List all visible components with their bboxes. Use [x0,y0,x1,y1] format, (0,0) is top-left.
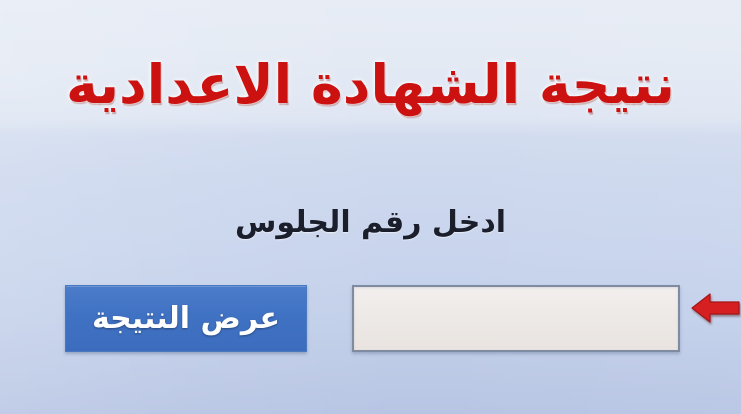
page-title: نتيجة الشهادة الاعدادية [0,54,741,116]
lookup-form: عرض النتيجة [0,285,741,355]
seat-number-prompt-label: ادخل رقم الجلوس [0,205,741,240]
show-result-button[interactable]: عرض النتيجة [65,285,307,352]
seat-number-input[interactable] [352,285,680,352]
arrow-left-icon [690,290,741,326]
result-lookup-page: نتيجة الشهادة الاعدادية ادخل رقم الجلوس … [0,0,741,414]
